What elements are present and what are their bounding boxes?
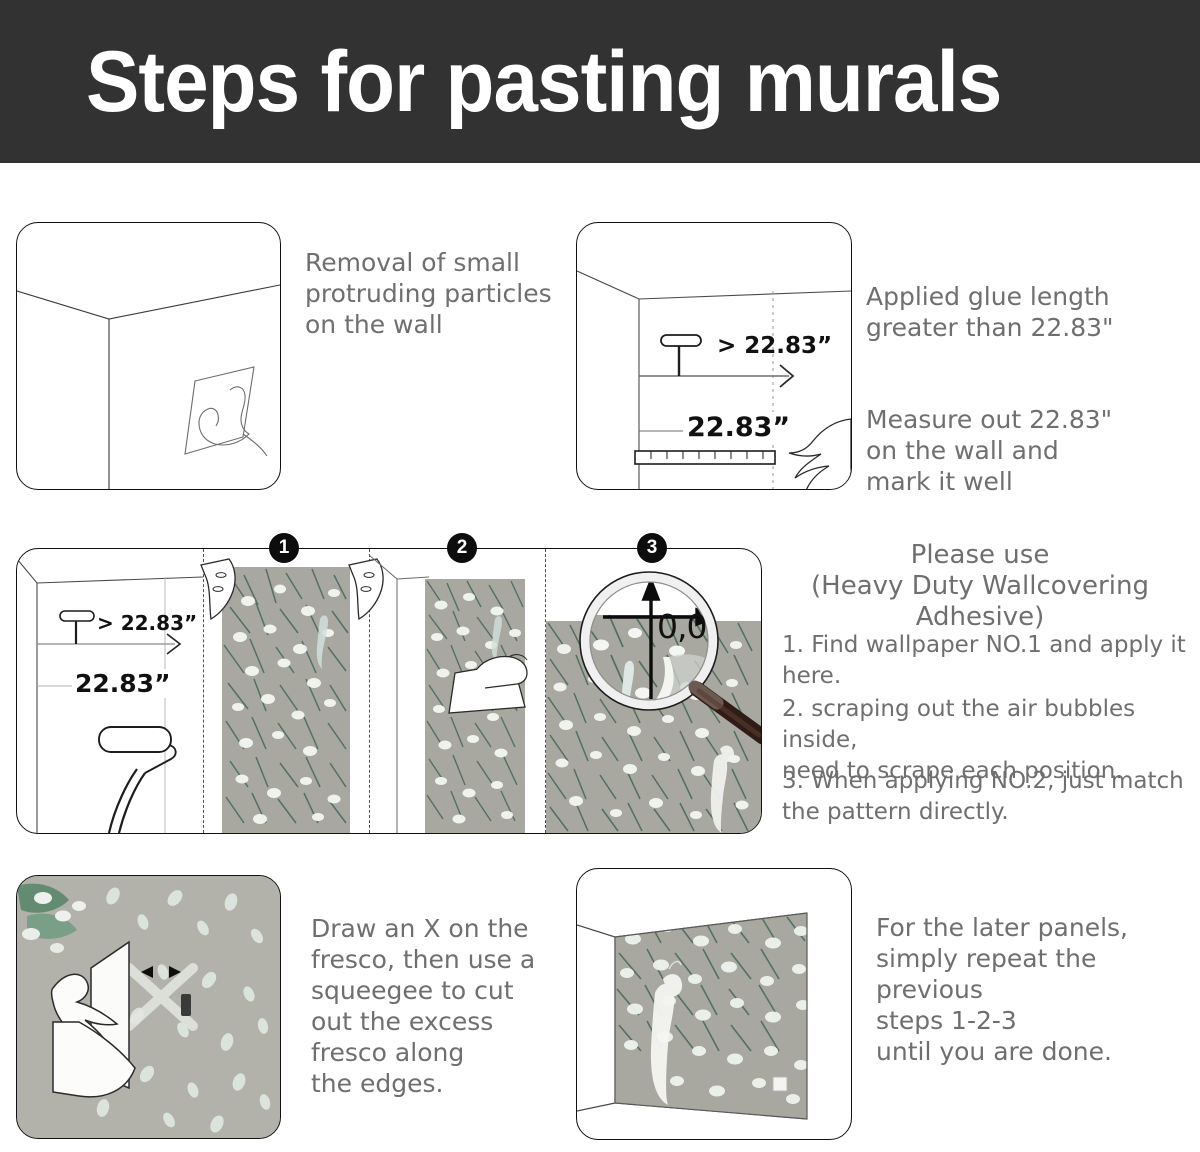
paint-roller-icon — [99, 727, 176, 833]
finished-mural-illustration — [577, 869, 851, 1139]
step-badge-2: 2 — [447, 533, 477, 563]
hand-pointing-icon — [789, 419, 851, 489]
step-badge-3: 3 — [637, 533, 667, 563]
ruler-icon — [635, 451, 775, 464]
hand-with-scraper-icon — [185, 367, 267, 456]
header-bar: Steps for pasting murals — [0, 0, 1200, 163]
light-switch-icon — [181, 994, 191, 1016]
wall-measure-subdrawing: > 22.83” 22.83” — [17, 549, 203, 833]
glue-length-label: > 22.83” — [717, 333, 832, 359]
instruction-1: 1. Find wallpaper NO.1 and apply it here… — [782, 630, 1192, 692]
adhesive-subheading: (Heavy Duty Wallcovering Adhesive) — [770, 571, 1190, 633]
panel-step4-trim-edges — [16, 875, 281, 1139]
adhesive-heading: Please use — [780, 540, 1180, 571]
hand-squeegee-icon — [447, 645, 539, 717]
wall-edge-lines — [369, 549, 429, 833]
glue-roller-icon — [60, 611, 94, 644]
page-title: Steps for pasting murals — [86, 36, 1001, 128]
caption-step2-top: Applied glue length greater than 22.83" — [866, 281, 1166, 343]
wallpaper-strip-1 — [222, 567, 350, 833]
measure-label: 22.83” — [683, 412, 794, 443]
glue-length-label: > 22.83” — [97, 611, 197, 635]
caption-step2-bottom: Measure out 22.83" on the wall and mark … — [866, 404, 1166, 497]
fresco-background — [17, 876, 280, 1138]
light-switch-icon — [773, 1077, 787, 1091]
measure-label: 22.83” — [72, 669, 174, 698]
panel-step1-remove-particles — [16, 222, 281, 490]
caption-step5: For the later panels, simply repeat the … — [876, 912, 1200, 1067]
panel-step3-hang-panels: > 22.83” 22.83” — [16, 548, 762, 834]
caption-step1: Removal of small protruding particles on… — [305, 247, 555, 340]
panel-step2-glue-measure: > 22.83” 22.83” — [576, 222, 852, 490]
magnifier-icon — [577, 559, 762, 759]
caption-step4: Draw an X on the fresco, then use a sque… — [311, 913, 571, 1099]
panel-step5-finished-wall — [576, 868, 852, 1140]
origin-label: 0,0 — [657, 607, 706, 646]
hand-gripping-icon — [199, 557, 239, 621]
wall-corner-illustration — [17, 223, 280, 489]
step-badge-1: 1 — [269, 533, 299, 563]
instruction-3: 3. When applying NO.2, just match the pa… — [782, 766, 1192, 828]
magnifier-handle — [695, 687, 762, 737]
peacock — [317, 615, 328, 669]
glue-roller-icon — [661, 335, 701, 376]
